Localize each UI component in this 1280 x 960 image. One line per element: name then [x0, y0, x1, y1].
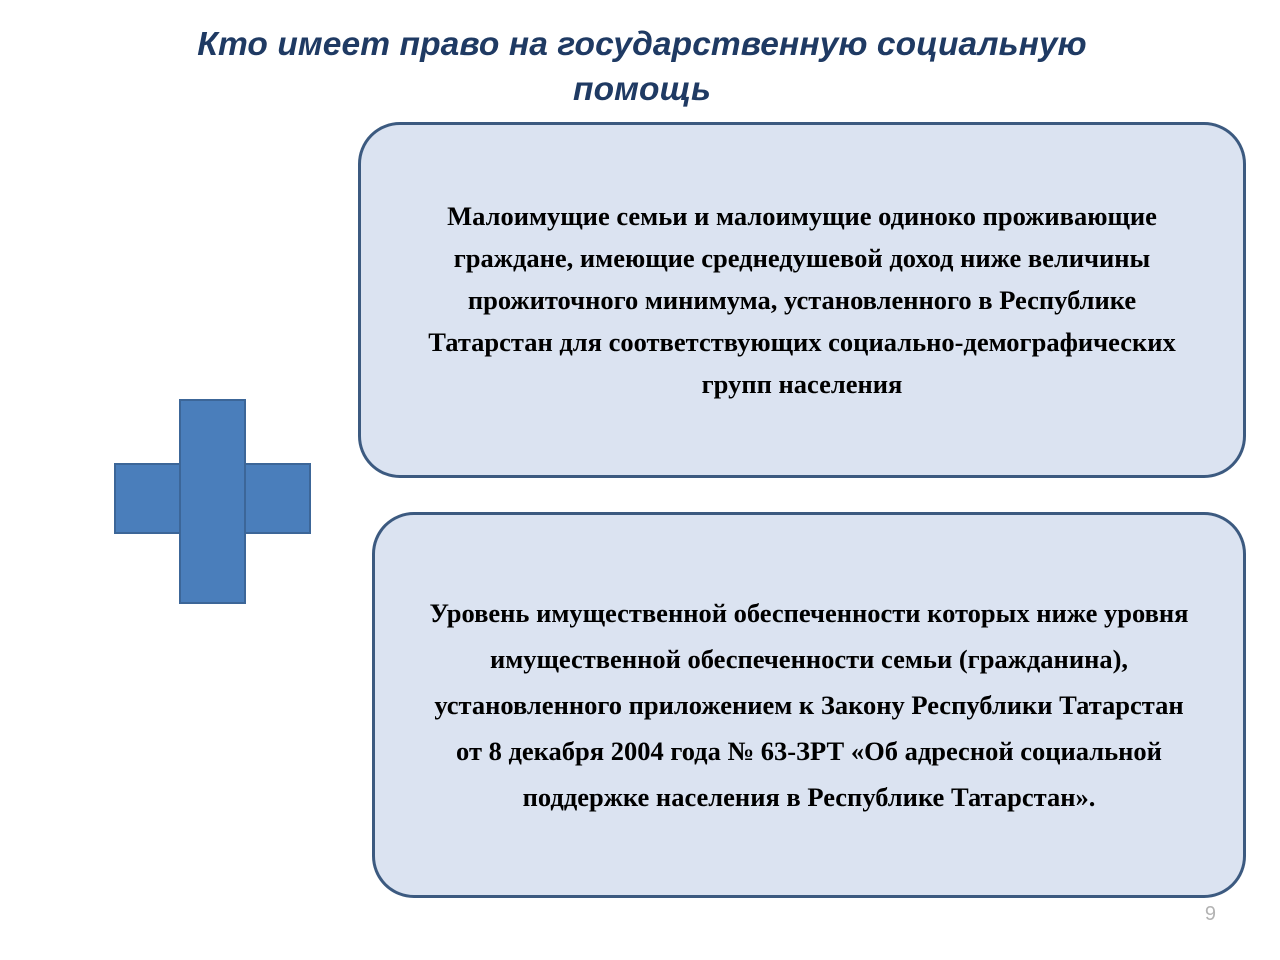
- callout-low-income-text: Малоимущие семьи и малоимущие одиноко пр…: [407, 195, 1197, 405]
- page-number: 9: [1205, 903, 1216, 926]
- callout-property-level: Уровень имущественной обеспеченности кот…: [372, 512, 1246, 898]
- callout-property-level-text: Уровень имущественной обеспеченности кот…: [421, 590, 1197, 820]
- plus-icon-vertical-bar: [179, 399, 246, 604]
- page-title: Кто имеет право на государственную социа…: [128, 22, 1156, 112]
- slide: Кто имеет право на государственную социа…: [0, 0, 1280, 960]
- callout-low-income: Малоимущие семьи и малоимущие одиноко пр…: [358, 122, 1246, 478]
- plus-icon: [114, 399, 311, 604]
